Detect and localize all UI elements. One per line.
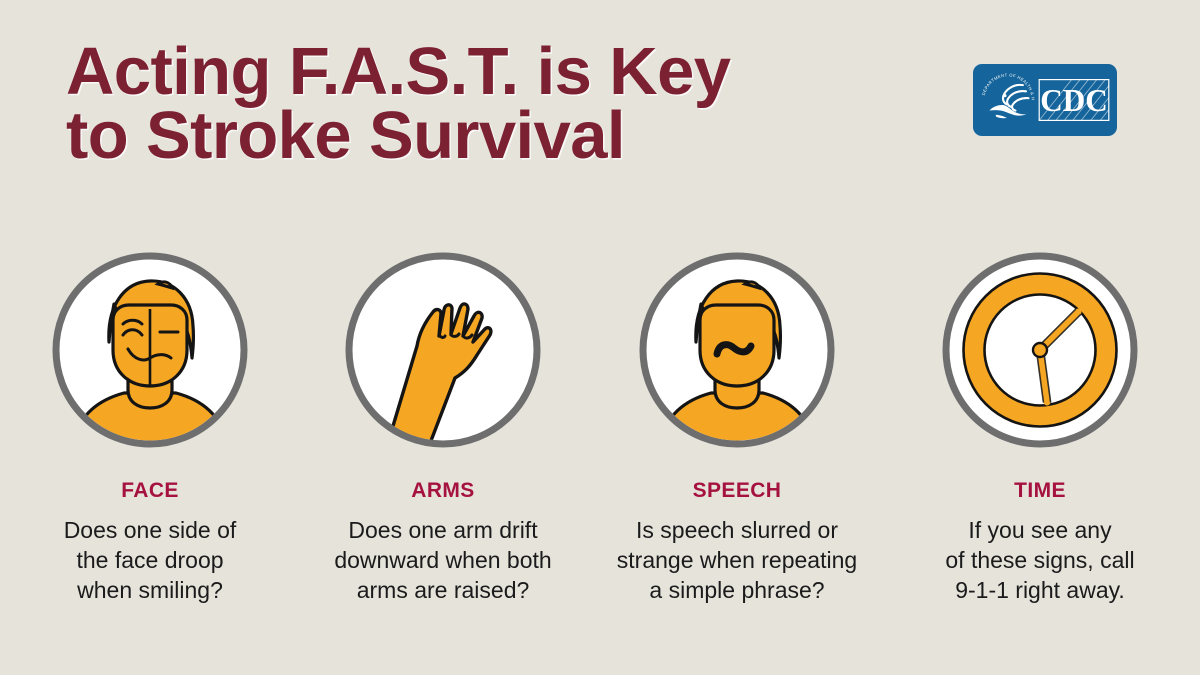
column-heading-time: TIME [899,479,1181,503]
face-droop-icon [50,250,250,450]
column-heading-speech: SPEECH [596,479,878,503]
column-arms: ARMS Does one arm drift downward when bo… [302,250,584,606]
column-body-arms: Does one arm drift downward when both ar… [302,516,584,606]
column-body-speech: Is speech slurred or strange when repeat… [596,516,878,606]
column-heading-arms: ARMS [302,479,584,503]
clock-icon [940,250,1140,450]
cdc-wordmark: CDC [1038,77,1110,123]
cdc-wordmark-text: CDC [1040,83,1108,118]
slurred-speech-face-icon [637,250,837,450]
infographic-canvas: Acting F.A.S.T. is Key to Stroke Surviva… [0,0,1200,675]
column-face: FACE Does one side of the face droop whe… [9,250,291,606]
raised-arm-icon [343,250,543,450]
column-speech: SPEECH Is speech slurred or strange when… [596,250,878,606]
column-time: TIME If you see any of these signs, call… [899,250,1181,606]
cdc-logo[interactable]: DEPARTMENT OF HEALTH & HUMAN SERVICES US… [973,64,1117,136]
column-heading-face: FACE [9,479,291,503]
page-title: Acting F.A.S.T. is Key to Stroke Surviva… [66,40,896,169]
column-body-face: Does one side of the face droop when smi… [9,516,291,606]
hhs-seal-icon: DEPARTMENT OF HEALTH & HUMAN SERVICES US… [977,69,1039,131]
column-body-time: If you see any of these signs, call 9-1-… [899,516,1181,606]
